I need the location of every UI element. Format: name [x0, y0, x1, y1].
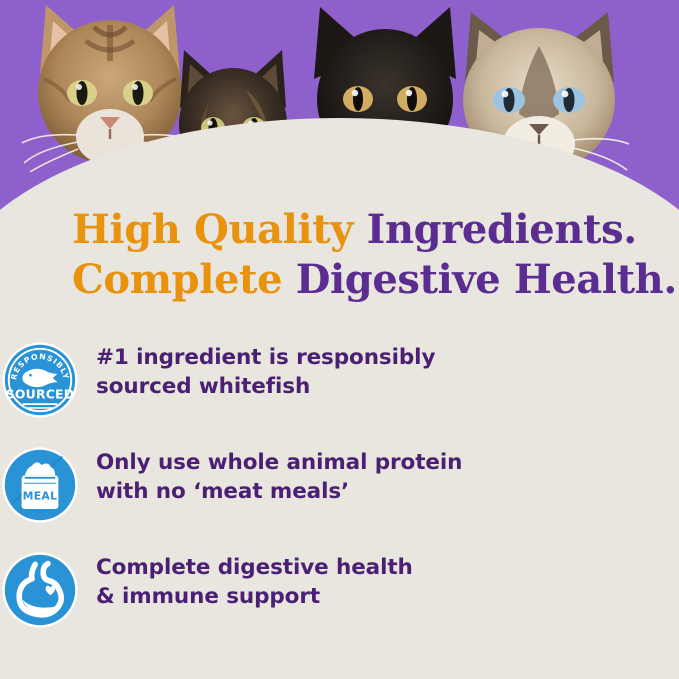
headline-line2-orange: Complete	[72, 256, 296, 303]
list-item-text: #1 ingredient is responsibly sourced whi…	[96, 338, 435, 401]
headline-line-1: High Quality Ingredients.	[72, 205, 652, 255]
list-item: Complete digestive health & immune suppo…	[0, 548, 679, 653]
cat-photo-banner	[0, 0, 679, 230]
list-item-text: Complete digestive health & immune suppo…	[96, 548, 413, 611]
list-item-text: Only use whole animal protein with no ‘m…	[96, 443, 462, 506]
headline-line1-orange: High Quality	[72, 206, 367, 253]
list-item-line-1: #1 ingredient is responsibly	[96, 344, 435, 373]
headline-line2-purple: Digestive Health.	[296, 256, 677, 303]
headline-line1-purple: Ingredients.	[367, 206, 637, 253]
list-item: MEAL Only use whole animal protein with …	[0, 443, 679, 548]
benefits-list: RESPONSIBLY SOURCED #1 ingredient is res…	[0, 338, 679, 653]
product-benefits-poster: High Quality Ingredients. Complete Diges…	[0, 0, 679, 679]
page-title: High Quality Ingredients. Complete Diges…	[72, 205, 652, 304]
responsibly-sourced-fish-badge-icon: RESPONSIBLY SOURCED	[0, 340, 80, 420]
list-item-line-1: Only use whole animal protein	[96, 449, 462, 478]
list-item-line-2: & immune support	[96, 583, 413, 612]
list-item-line-2: sourced whitefish	[96, 373, 435, 402]
list-item-line-2: with no ‘meat meals’	[96, 478, 462, 507]
list-item: RESPONSIBLY SOURCED #1 ingredient is res…	[0, 338, 679, 443]
meal-bag-label: MEAL	[23, 489, 58, 502]
meal-bag-icon: MEAL	[0, 445, 80, 525]
stomach-heart-digestive-icon	[0, 550, 80, 630]
badge-main-text: SOURCED	[6, 386, 75, 401]
headline-line-2: Complete Digestive Health.	[72, 255, 652, 305]
list-item-line-1: Complete digestive health	[96, 554, 413, 583]
